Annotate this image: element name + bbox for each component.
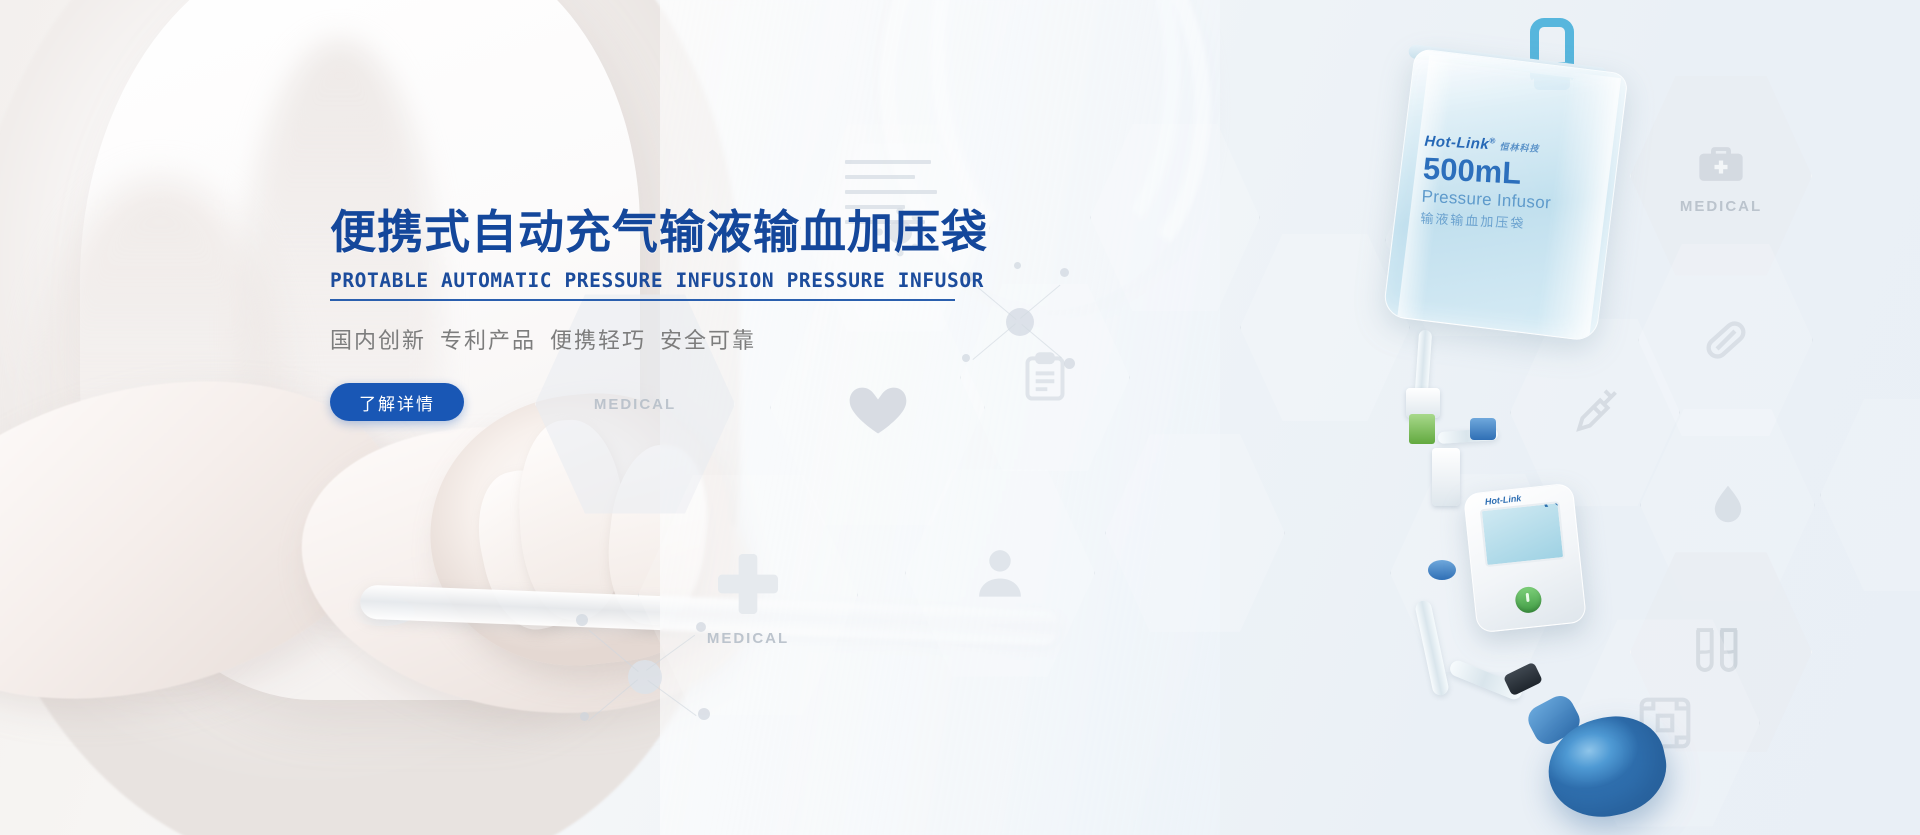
molecule-graphic xyxy=(570,608,720,738)
learn-more-button[interactable]: 了解详情 xyxy=(330,383,464,421)
bag-brand-name: Hot-Link xyxy=(1424,133,1490,153)
hex-cell xyxy=(1820,395,1920,595)
tagline-item: 便携轻巧 xyxy=(550,328,646,353)
drip-chamber xyxy=(1432,448,1460,506)
tagline-item: 专利产品 xyxy=(440,328,536,353)
page-subtitle: PROTABLE AUTOMATIC PRESSURE INFUSION PRE… xyxy=(330,269,955,292)
pressure-monitor: Hot-Link 268 xyxy=(1463,483,1587,634)
blood-drop-icon xyxy=(1704,475,1752,535)
monitor-reading: 268 xyxy=(1538,501,1565,509)
hex-cell xyxy=(1240,230,1410,425)
hero-copy: 便携式自动充气输液输血加压袋 PROTABLE AUTOMATIC PRESSU… xyxy=(330,205,1110,421)
bag-label: Hot-Link®恒林科技 500mL Pressure Infusor 输液输… xyxy=(1420,133,1595,235)
pill-capsule-icon xyxy=(1697,311,1755,369)
cross-icon xyxy=(708,544,788,624)
subtitle-underline: PROTABLE AUTOMATIC PRESSURE INFUSION PRE… xyxy=(330,269,955,301)
hero-banner: MEDICAL MEDICAL xyxy=(0,0,1920,835)
blue-valve-upper xyxy=(1470,418,1496,440)
patient-icon xyxy=(967,540,1033,606)
hex-cell xyxy=(1105,430,1285,636)
roller-clamp xyxy=(1428,560,1456,580)
power-button[interactable] xyxy=(1514,586,1543,615)
page-title: 便携式自动充气输液输血加压袋 xyxy=(330,205,1110,259)
tagline-item: 安全可靠 xyxy=(660,328,756,353)
registered-mark-icon: ® xyxy=(1489,136,1496,145)
medical-briefcase-icon xyxy=(1692,138,1750,190)
green-valve xyxy=(1409,414,1435,444)
monitor-screen: 268 xyxy=(1480,501,1566,567)
tagline: 国内创新专利产品便携轻巧安全可靠 xyxy=(330,323,1110,355)
hex-label: MEDICAL xyxy=(1680,198,1762,215)
pressure-infusion-bag: Hot-Link®恒林科技 500mL Pressure Infusor 输液输… xyxy=(1382,48,1628,342)
hex-cell xyxy=(1090,120,1260,315)
tagline-item: 国内创新 xyxy=(330,328,426,353)
syringe-icon xyxy=(1567,385,1623,441)
bag-brand-cn: 恒林科技 xyxy=(1499,142,1539,154)
